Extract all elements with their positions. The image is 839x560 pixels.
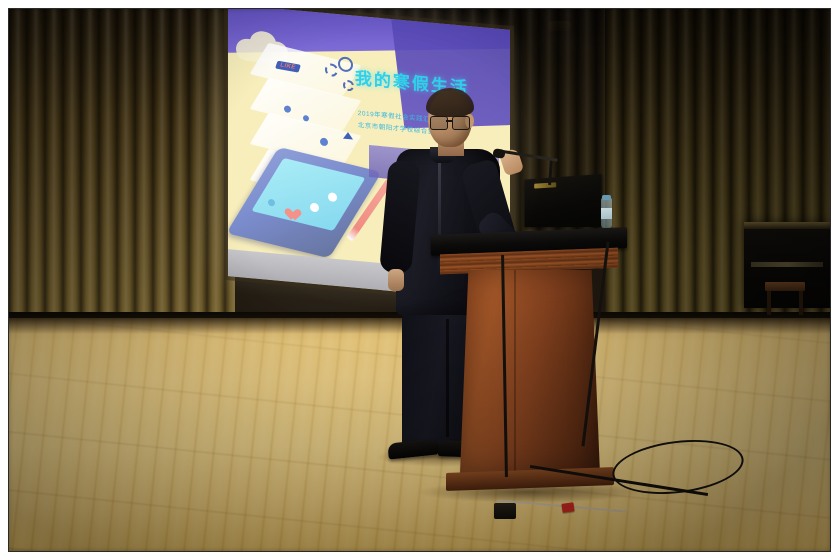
glasses: [430, 116, 472, 128]
podium-corner-edge: [514, 270, 516, 474]
laptop-logo: [534, 182, 556, 188]
speaker-hair: [426, 88, 474, 117]
podium-column: [460, 270, 600, 474]
glasses-lens-right: [452, 116, 470, 130]
piano-bench: [765, 282, 805, 291]
water-bottle-label: [601, 208, 612, 219]
photo-canvas: LIKE 我的寒假生活 2019年寒假: [9, 9, 830, 551]
photo-frame: LIKE 我的寒假生活 2019年寒假: [0, 0, 839, 560]
piano-lid: [744, 222, 830, 229]
piano-bench-leg: [799, 291, 803, 315]
piano-bench-leg: [767, 291, 771, 315]
laptop-computer: [525, 174, 602, 227]
red-tape-marker: [561, 502, 574, 513]
speaker-hand-left: [388, 269, 404, 291]
water-bottle-cap: [602, 195, 611, 200]
microphone-head: [492, 148, 505, 159]
glasses-lens-left: [430, 116, 448, 130]
floor-power-box: [494, 503, 516, 519]
piano-keyboard: [751, 262, 823, 267]
upright-piano: [744, 222, 830, 308]
